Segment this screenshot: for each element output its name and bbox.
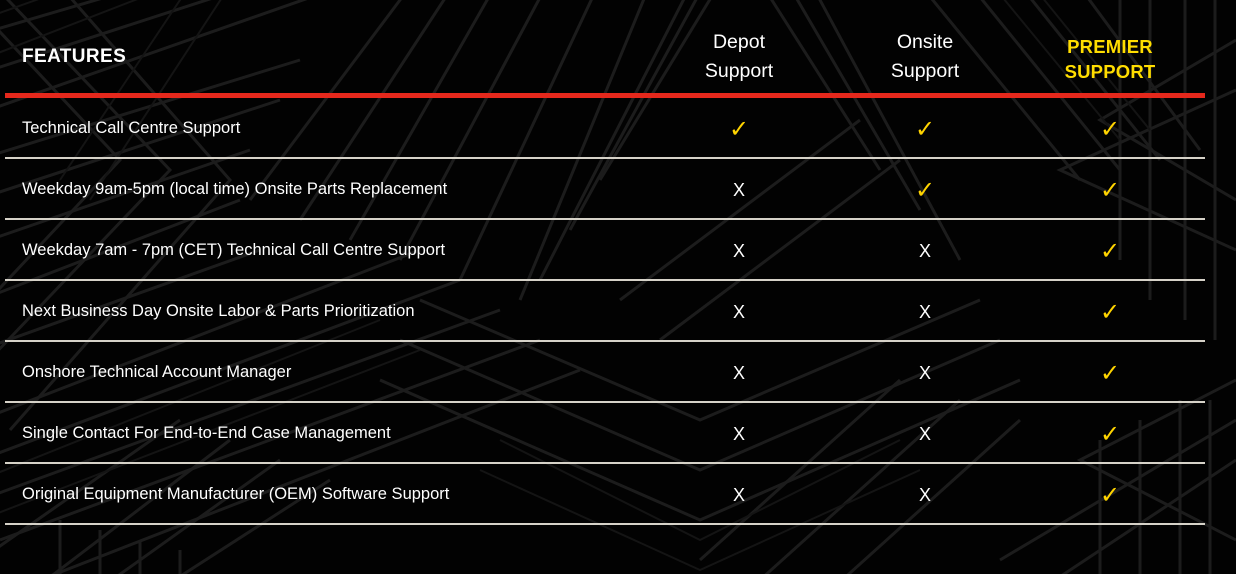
check-icon: ✓ <box>915 117 935 141</box>
check-icon: ✓ <box>915 178 935 202</box>
column-header-line2: SUPPORT <box>1000 59 1220 84</box>
availability-cell: ✓ <box>1000 464 1220 525</box>
availability-cell: ✓ <box>1000 220 1220 281</box>
check-icon: ✓ <box>1100 422 1120 446</box>
cross-icon: X <box>919 242 931 260</box>
features-column-title: FEATURES <box>22 46 126 68</box>
check-icon: ✓ <box>1100 117 1120 141</box>
table-row: Weekday 9am-5pm (local time) Onsite Part… <box>0 159 1236 220</box>
check-icon: ✓ <box>1100 300 1120 324</box>
availability-cell: ✓ <box>1000 342 1220 403</box>
table-row: Weekday 7am - 7pm (CET) Technical Call C… <box>0 220 1236 281</box>
check-icon: ✓ <box>1100 239 1120 263</box>
table-body: Technical Call Centre Support✓✓✓Weekday … <box>0 98 1236 525</box>
cross-icon: X <box>919 486 931 504</box>
availability-cell: ✓ <box>1000 159 1220 220</box>
cross-icon: X <box>919 303 931 321</box>
table-row: Technical Call Centre Support✓✓✓ <box>0 98 1236 159</box>
row-separator <box>5 523 1205 525</box>
feature-label: Technical Call Centre Support <box>22 98 240 159</box>
cross-icon: X <box>919 364 931 382</box>
availability-cell: ✓ <box>1000 98 1220 159</box>
cross-icon: X <box>733 303 745 321</box>
table-row: Original Equipment Manufacturer (OEM) So… <box>0 464 1236 525</box>
check-icon: ✓ <box>1100 178 1120 202</box>
cross-icon: X <box>733 242 745 260</box>
comparison-table: FEATURES Depot Support Onsite Support PR… <box>0 0 1236 574</box>
check-icon: ✓ <box>729 117 749 141</box>
cross-icon: X <box>733 364 745 382</box>
feature-label: Original Equipment Manufacturer (OEM) So… <box>22 464 449 525</box>
table-header-row: FEATURES Depot Support Onsite Support PR… <box>0 0 1236 94</box>
availability-cell: ✓ <box>1000 403 1220 464</box>
column-header-line1: PREMIER <box>1000 34 1220 59</box>
feature-label: Single Contact For End-to-End Case Manag… <box>22 403 391 464</box>
check-icon: ✓ <box>1100 361 1120 385</box>
support-comparison-table-root: FEATURES Depot Support Onsite Support PR… <box>0 0 1236 574</box>
cross-icon: X <box>919 425 931 443</box>
cross-icon: X <box>733 486 745 504</box>
cross-icon: X <box>733 425 745 443</box>
feature-label: Onshore Technical Account Manager <box>22 342 291 403</box>
column-header-premier-support: PREMIER SUPPORT <box>1000 34 1220 84</box>
availability-cell: ✓ <box>1000 281 1220 342</box>
check-icon: ✓ <box>1100 483 1120 507</box>
feature-label: Weekday 7am - 7pm (CET) Technical Call C… <box>22 220 445 281</box>
table-row: Next Business Day Onsite Labor & Parts P… <box>0 281 1236 342</box>
table-row: Single Contact For End-to-End Case Manag… <box>0 403 1236 464</box>
feature-label: Weekday 9am-5pm (local time) Onsite Part… <box>22 159 447 220</box>
feature-label: Next Business Day Onsite Labor & Parts P… <box>22 281 415 342</box>
header-red-divider <box>5 93 1205 98</box>
table-row: Onshore Technical Account ManagerXX✓ <box>0 342 1236 403</box>
cross-icon: X <box>733 181 745 199</box>
